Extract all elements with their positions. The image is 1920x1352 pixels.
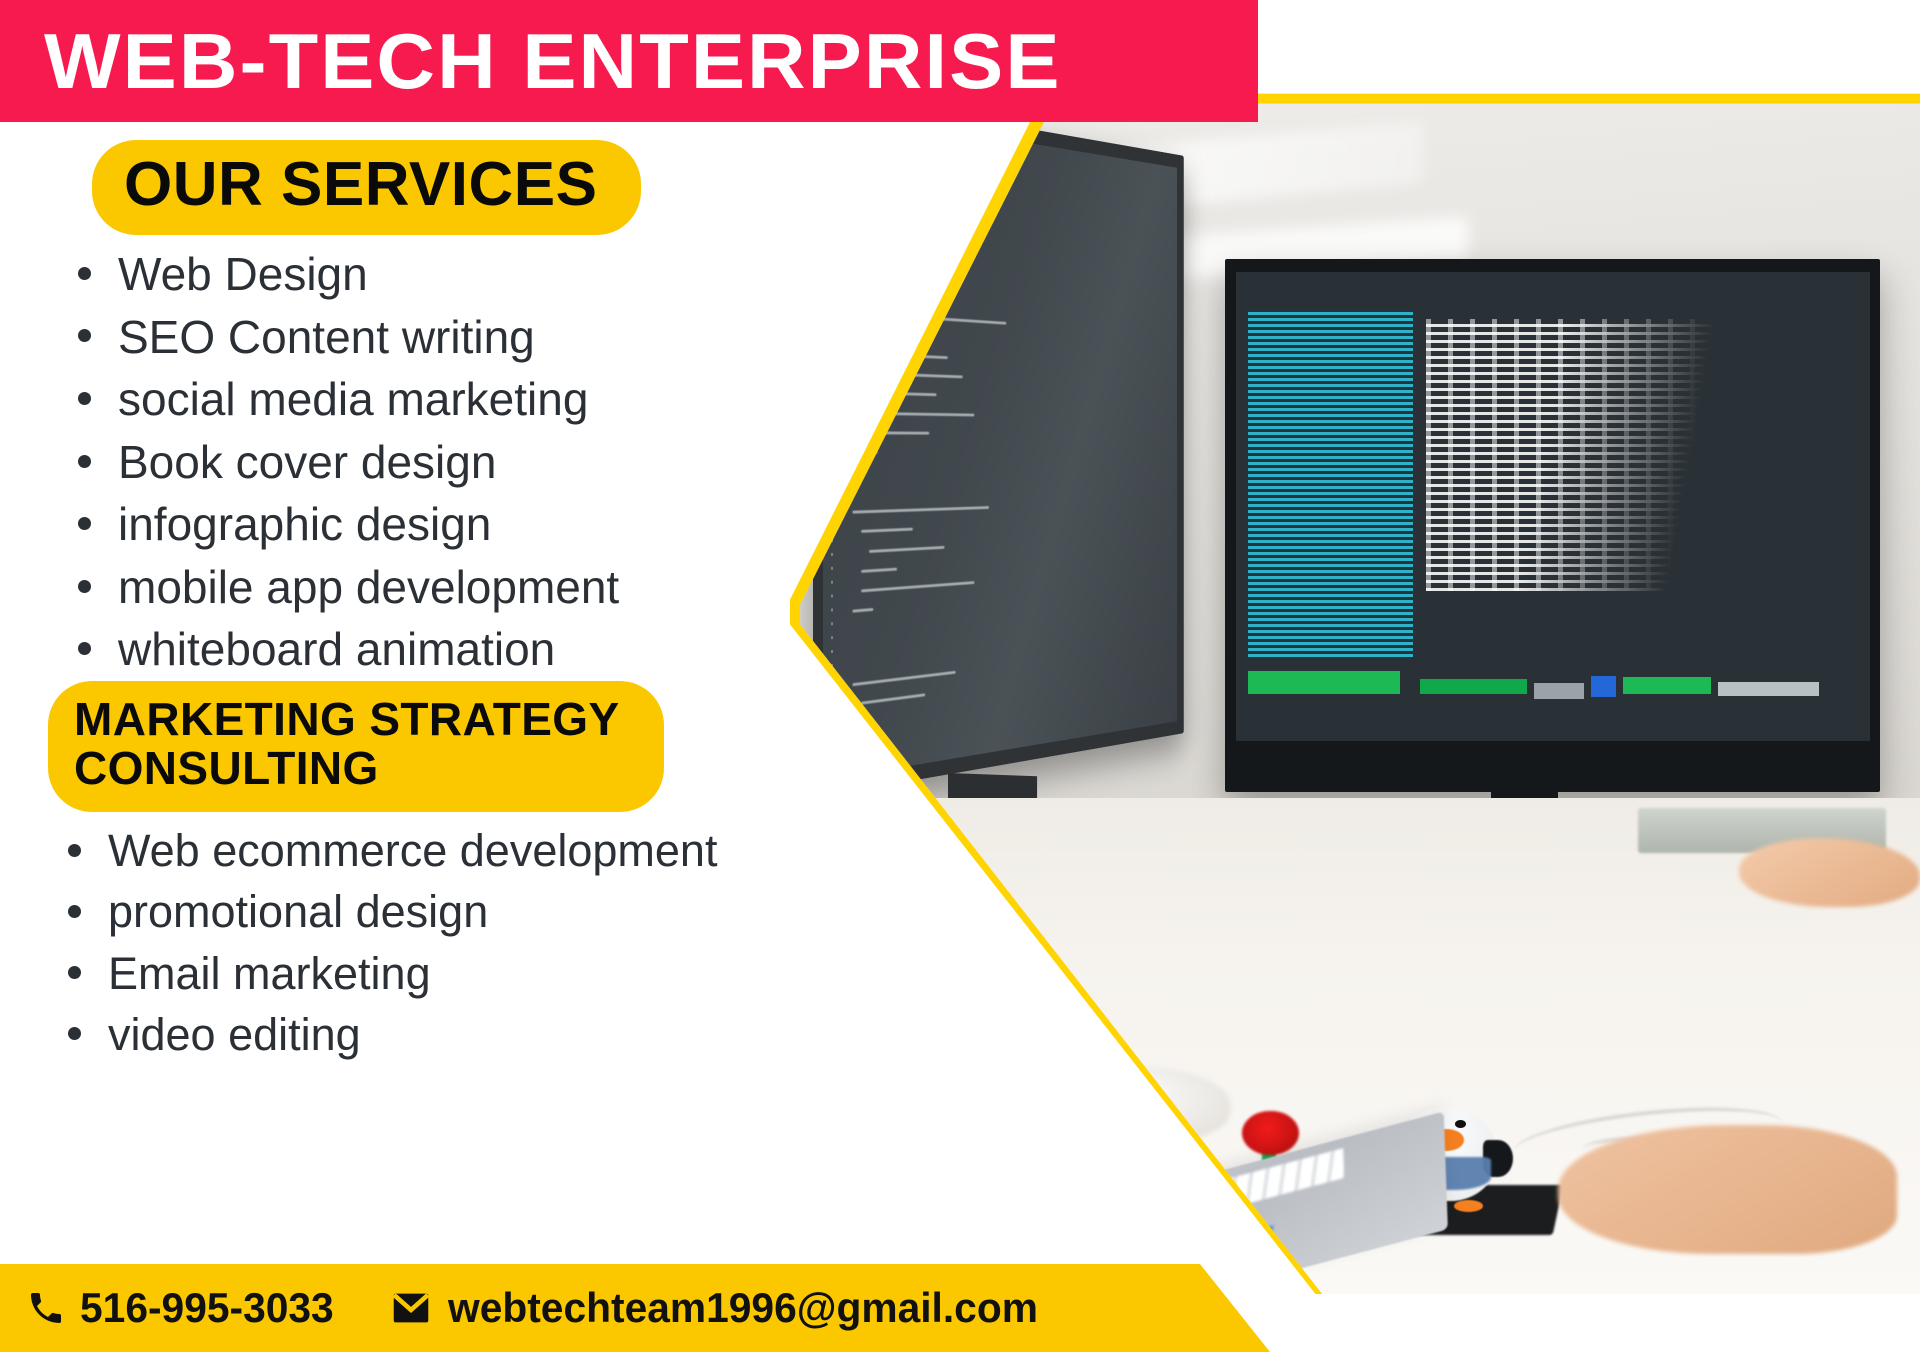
services-list: Web Design SEO Content writing social me… [0,243,1010,681]
marketing-badge-line-2: CONSULTING [74,744,620,794]
laptop-keyboard [1026,1148,1343,1263]
list-item: mobile app development [72,556,1010,619]
service-label: whiteboard animation [118,623,555,675]
right-monitor-screen [1236,272,1870,741]
terminal-text-block [1426,319,1718,591]
service-label: infographic design [118,498,491,550]
list-item: Web ecommerce development [62,820,1010,881]
flyer-root: WEB-TECH ENTERPRISE OUR SERVICES Web Des… [0,0,1920,1352]
email-address: webtechteam1996@gmail.com [448,1284,1038,1332]
contact-bar: 516-995-3033 webtechteam1996@gmail.com [0,1264,1270,1352]
service-label: SEO Content writing [118,311,535,363]
bullet-icon [68,844,81,857]
typing-hand [1558,1125,1897,1254]
bullet-icon [78,392,91,405]
bullet-icon [78,267,91,280]
marketing-strategy-badge: MARKETING STRATEGY CONSULTING [48,681,664,812]
phone-number: 516-995-3033 [80,1284,334,1332]
envelope-icon [388,1285,434,1331]
service-label: mobile app development [118,561,619,613]
list-item: social media marketing [72,368,1010,431]
phone-contact[interactable]: 516-995-3033 [26,1284,342,1332]
service-label: social media marketing [118,373,588,425]
our-services-badge: OUR SERVICES [92,140,641,235]
marketing-badge-line-1: MARKETING STRATEGY [74,695,620,745]
right-monitor [1225,259,1880,792]
list-item: Book cover design [72,431,1010,494]
service-label: Web Design [118,248,368,300]
marketing-label: promotional design [108,886,488,937]
marketing-list: Web ecommerce development promotional de… [0,820,1010,1065]
bullet-icon [78,642,91,655]
list-item: Web Design [72,243,1010,306]
phone-icon [26,1288,66,1328]
list-item: promotional design [62,881,1010,942]
list-item: whiteboard animation [72,618,1010,681]
list-item: infographic design [72,493,1010,556]
bullet-icon [68,1027,81,1040]
bullet-icon [78,580,91,593]
marketing-label: video editing [108,1009,361,1060]
list-item: Email marketing [62,943,1010,1004]
service-label: Book cover design [118,436,496,488]
bullet-icon [78,455,91,468]
marketing-label: Web ecommerce development [108,825,717,876]
list-item: video editing [62,1004,1010,1065]
bullet-icon [78,329,91,342]
list-item: SEO Content writing [72,306,1010,369]
bullet-icon [68,905,81,918]
top-banner: WEB-TECH ENTERPRISE [0,0,1258,122]
hand-upper [1739,838,1920,907]
content-column: OUR SERVICES Web Design SEO Content writ… [0,122,1010,1262]
red-rose [1242,1111,1299,1156]
marketing-label: Email marketing [108,948,431,999]
bullet-icon [68,966,81,979]
desk-ornament [1039,1066,1231,1145]
email-contact[interactable]: webtechteam1996@gmail.com [388,1284,1056,1332]
terminal-teal-block [1248,309,1413,656]
bullet-icon [78,517,91,530]
company-title: WEB-TECH ENTERPRISE [44,22,1062,100]
